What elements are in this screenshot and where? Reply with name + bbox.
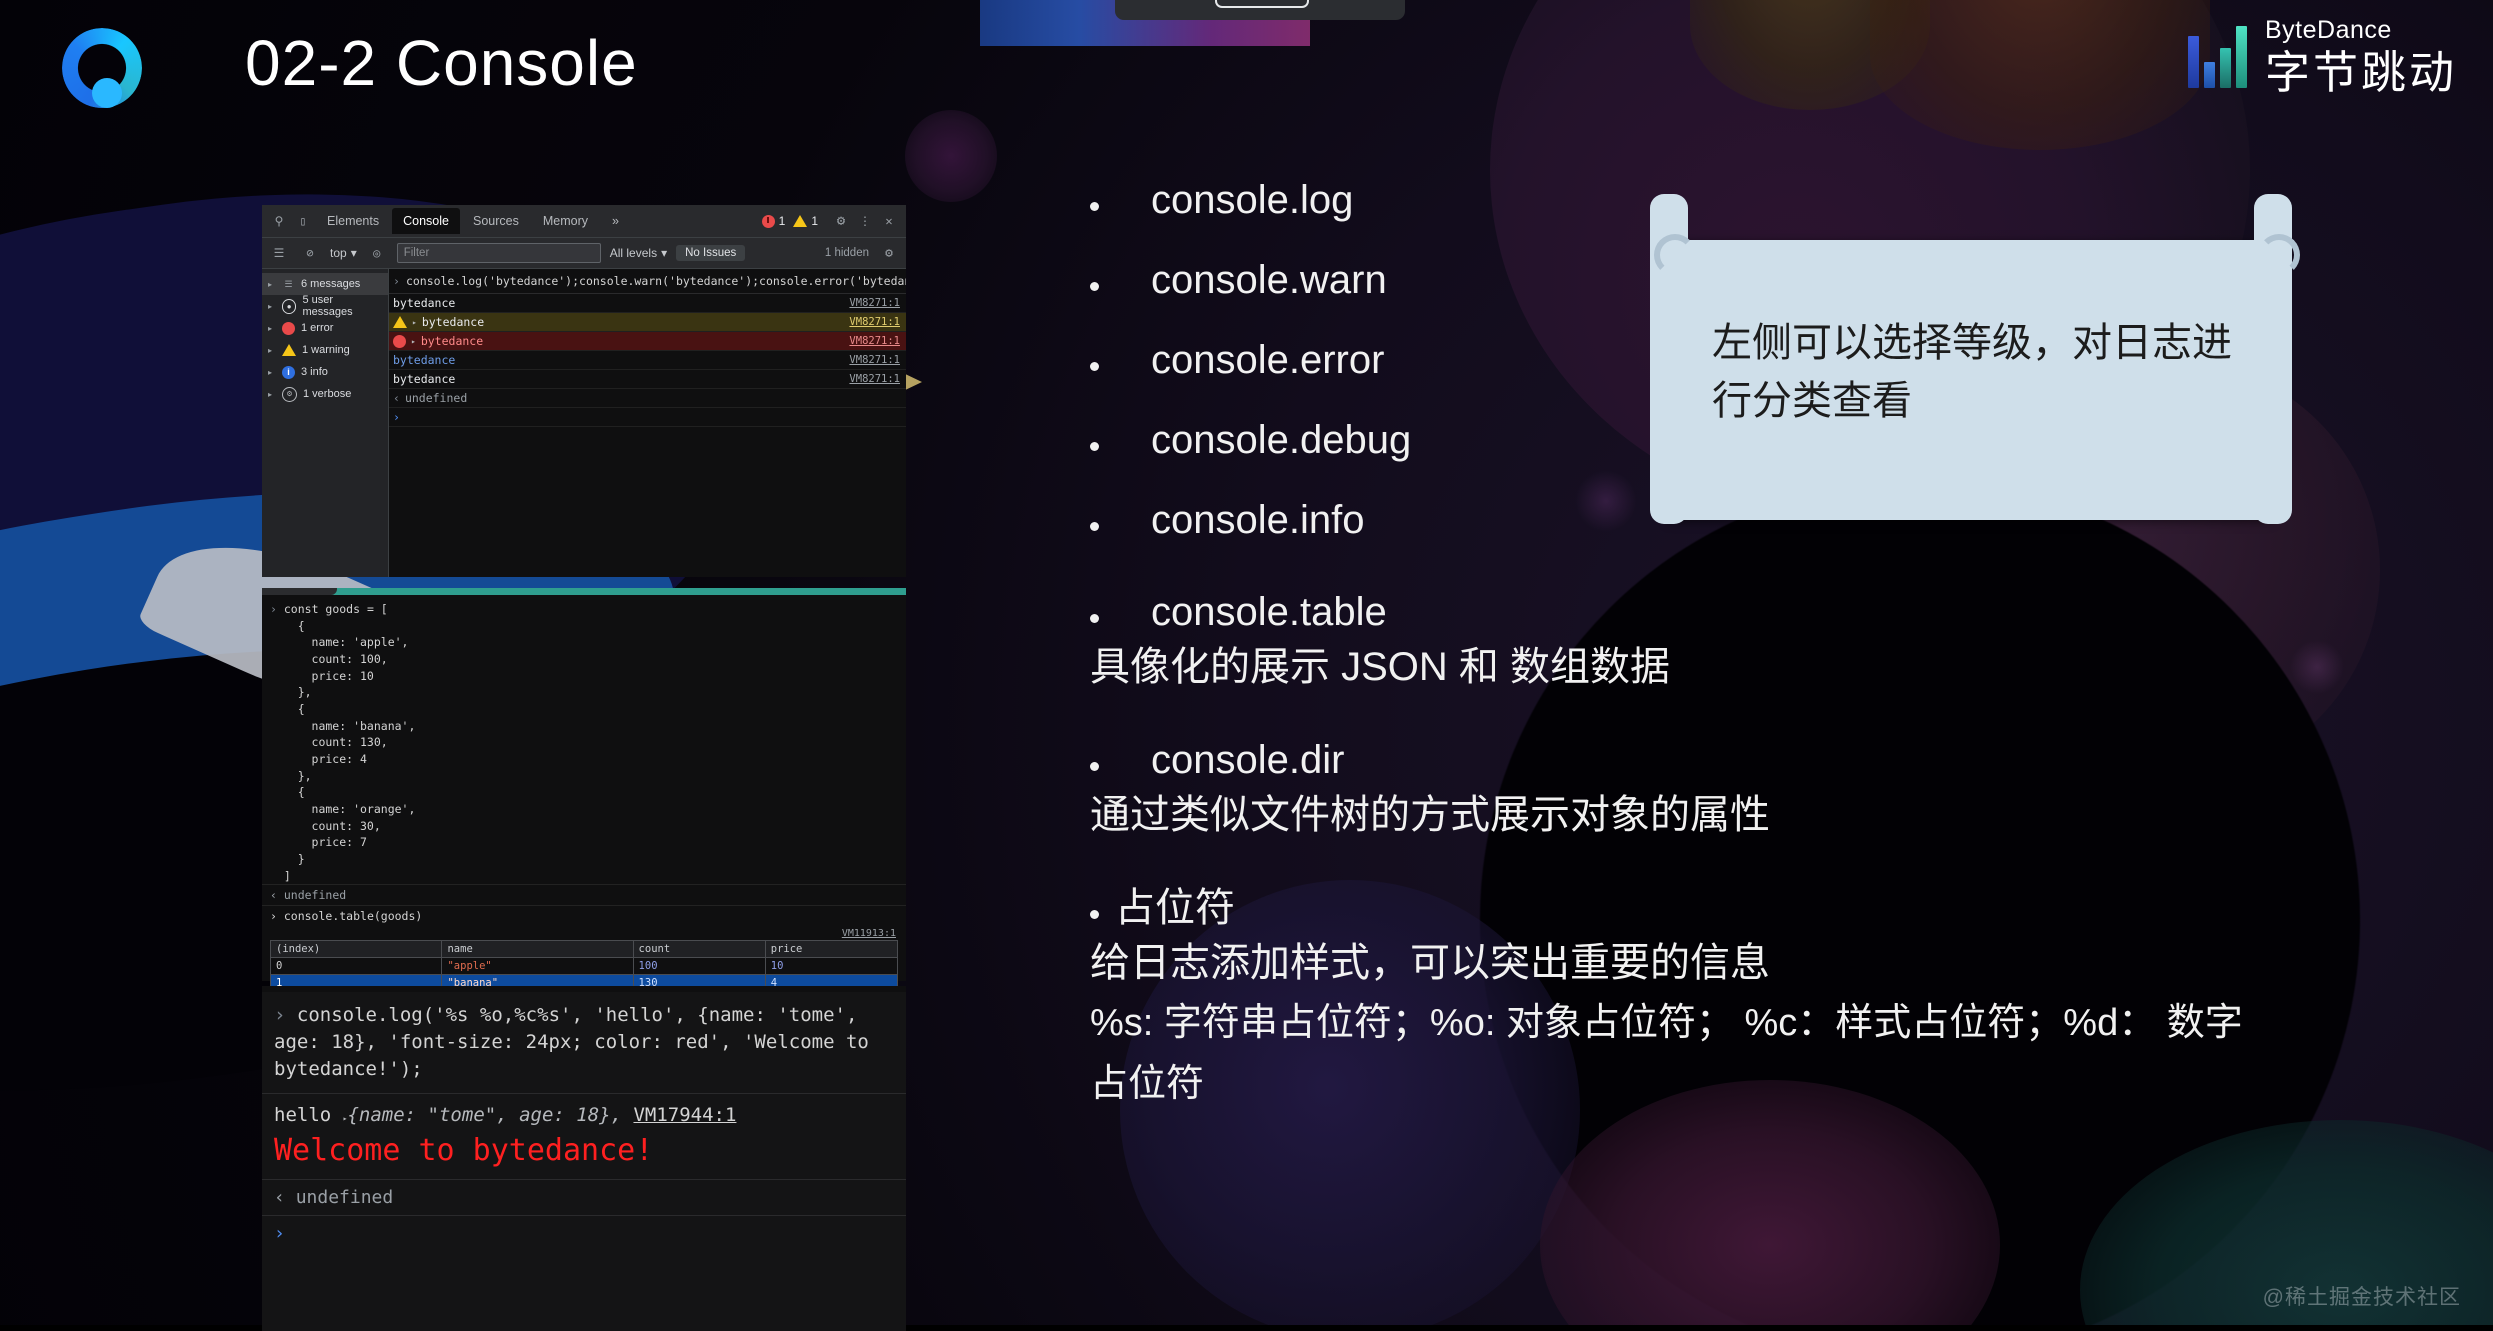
settings-gear-icon[interactable]: ⚙	[830, 210, 852, 232]
return-arrow-icon: ‹	[393, 391, 400, 405]
column-header-count: count	[633, 941, 765, 958]
log-message: bytedance	[393, 353, 455, 367]
output-source-link[interactable]: VM17944:1	[633, 1104, 736, 1126]
callout-text: 左侧可以选择等级，对日志进行分类查看	[1712, 314, 2232, 430]
bullet-dot-icon	[1090, 202, 1099, 211]
chevron-right-icon: ▸	[268, 390, 276, 399]
console-sidebar[interactable]: ▸ ☰ 6 messages ▸ ● 5 user messages ▸ 1 e…	[262, 269, 389, 577]
bullet-dot-icon	[1090, 442, 1099, 451]
devtools-panel-console[interactable]: ⚲ ▯ Elements Console Sources Memory » 1 …	[262, 205, 906, 575]
section-description: 通过类似文件树的方式展示对象的属性	[1090, 788, 2480, 842]
goods-source-code: const goods = [ { name: 'apple', count: …	[270, 602, 415, 883]
sidebar-item-user-messages[interactable]: ▸ ● 5 user messages	[262, 295, 388, 317]
warning-icon	[282, 344, 296, 356]
log-source-link[interactable]: VM8271:1	[849, 316, 900, 328]
devtools-panel-table[interactable]: › const goods = [ { name: 'apple', count…	[262, 588, 906, 981]
chevron-right-icon: ▸	[268, 368, 276, 377]
cell-index: 0	[271, 958, 442, 975]
devtools-filter-bar: ☰ ⊘ top ▾ ◎ Filter All levels ▾ No Issue…	[262, 238, 906, 269]
console-settings-gear-icon[interactable]: ⚙	[878, 242, 900, 264]
log-row[interactable]: ▸ bytedance VM8271:1	[389, 313, 906, 332]
cell-name: "apple"	[442, 958, 633, 975]
goods-code-block: › const goods = [ { name: 'apple', count…	[262, 595, 906, 884]
prompt-arrow-icon: ›	[393, 410, 400, 424]
clear-console-icon[interactable]: ⊘	[299, 242, 321, 264]
console-input-echo: › console.log('bytedance');console.warn(…	[389, 269, 906, 294]
section-placeholders: 占位符 给日志添加样式，可以突出重要的信息 %s: 字符串占位符；%o: 对象占…	[1090, 888, 2480, 1112]
console-prompt-row[interactable]: ›	[389, 408, 906, 427]
slide-header: 02-2 Console ByteDance 字节跳动	[0, 0, 2493, 130]
bullet-dot-icon	[1090, 362, 1099, 371]
sidebar-item-label: 1 verbose	[303, 388, 351, 400]
output-prefix: hello	[274, 1104, 331, 1126]
bytedance-logo: ByteDance 字节跳动	[2188, 18, 2457, 95]
method-label: console.warn	[1151, 260, 1387, 300]
chevron-down-icon: ▾	[351, 246, 357, 260]
placeholder-reference-line-1: %s: 字符串占位符；%o: 对象占位符； %c：样式占位符；%d： 数字	[1090, 996, 2480, 1051]
tab-elements[interactable]: Elements	[316, 208, 390, 234]
method-label: console.debug	[1151, 420, 1411, 460]
live-expression-icon[interactable]: ◎	[366, 242, 388, 264]
warning-icon	[393, 316, 407, 328]
warning-count-label: 1	[811, 214, 818, 228]
log-source-link[interactable]: VM8271:1	[849, 297, 900, 309]
section-description: 具像化的展示 JSON 和 数组数据	[1090, 640, 2480, 694]
device-toolbar-icon[interactable]: ▯	[292, 210, 314, 232]
log-level-label: All levels	[610, 246, 657, 260]
inspect-element-icon[interactable]: ⚲	[268, 210, 290, 232]
brand-name-en: ByteDance	[2265, 18, 2457, 43]
logo-dot-shape	[92, 78, 122, 108]
log-row[interactable]: bytedance VM8271:1	[389, 351, 906, 370]
section-console-table: console.table 具像化的展示 JSON 和 数组数据	[1090, 592, 2480, 694]
sidebar-item-messages[interactable]: ▸ ☰ 6 messages	[262, 273, 388, 295]
hidden-count-label: 1 hidden	[825, 247, 869, 259]
section-console-dir: console.dir 通过类似文件树的方式展示对象的属性	[1090, 740, 2480, 842]
styled-output-text: Welcome to bytedance!	[262, 1131, 906, 1180]
log-result-row: ‹ undefined	[389, 389, 906, 408]
error-icon	[282, 322, 295, 335]
panel2-undefined-result: ‹ undefined	[262, 884, 906, 905]
section-title: 占位符	[1115, 888, 1235, 928]
sidebar-item-label: 5 user messages	[302, 294, 384, 318]
devtools-panel-placeholder[interactable]: › console.log('%s %o,%c%s', 'hello', {na…	[262, 986, 906, 1331]
info-icon: i	[282, 366, 295, 379]
log-row[interactable]: bytedance VM8271:1	[389, 294, 906, 313]
watermark: @稀土掘金技术社区	[2263, 1281, 2461, 1311]
log-source-link[interactable]: VM8271:1	[849, 373, 900, 385]
expand-triangle-icon[interactable]: ▸	[412, 318, 417, 327]
sidebar-item-errors[interactable]: ▸ 1 error	[262, 317, 388, 339]
chevron-right-icon: ▸	[268, 346, 276, 355]
error-icon	[393, 335, 406, 348]
panel-scroll-cap	[262, 588, 337, 595]
section-bullet: console.dir	[1090, 740, 2480, 780]
output-object: {name: "tome", age: 18},	[347, 1104, 622, 1126]
undefined-value: undefined	[284, 888, 346, 902]
tab-memory[interactable]: Memory	[532, 208, 599, 234]
cell-count: 100	[633, 958, 765, 975]
close-icon[interactable]: ✕	[878, 210, 900, 232]
bullet-dot-icon	[1090, 282, 1099, 291]
section-description: 给日志添加样式，可以突出重要的信息	[1090, 936, 2480, 990]
context-selector-label: top	[330, 246, 347, 260]
expand-triangle-icon[interactable]: ▸	[411, 337, 416, 346]
error-count-badge[interactable]: 1	[762, 214, 786, 228]
sidebar-item-label: 1 error	[301, 322, 333, 334]
log-message: bytedance	[393, 296, 455, 310]
placeholder-command-line: › console.log('%s %o,%c%s', 'hello', {na…	[262, 992, 906, 1094]
chevron-right-icon: ▸	[268, 280, 276, 289]
error-count-label: 1	[779, 214, 786, 228]
brand-name-cn: 字节跳动	[2265, 50, 2457, 95]
sidebar-item-label: 3 info	[301, 366, 328, 378]
context-selector[interactable]: top ▾	[330, 246, 357, 260]
callout-scroll: 左侧可以选择等级，对日志进行分类查看	[1650, 240, 2290, 520]
more-options-icon[interactable]: ⋮	[854, 210, 876, 232]
prompt-arrow-icon: ›	[393, 273, 400, 289]
messages-icon: ☰	[282, 278, 295, 291]
log-result-value: undefined	[405, 391, 467, 405]
placeholder-undefined-result: ‹ undefined	[262, 1180, 906, 1216]
bullet-dot-icon	[1090, 614, 1099, 623]
undefined-value: undefined	[296, 1187, 394, 1208]
sidebar-item-label: 6 messages	[301, 278, 360, 290]
method-label: console.info	[1151, 500, 1364, 540]
method-label: console.log	[1151, 180, 1353, 220]
log-level-selector[interactable]: All levels ▾	[610, 246, 667, 260]
column-header-name: name	[442, 941, 633, 958]
warning-count-badge[interactable]: 1	[793, 214, 818, 228]
error-icon	[762, 215, 775, 228]
table-command-text: console.table(goods)	[284, 909, 422, 923]
bullet-dot-icon	[1090, 910, 1099, 919]
callout-roll-left	[1650, 194, 1688, 524]
console-prompt-row[interactable]: ›	[262, 1216, 906, 1251]
bullet-dot-icon	[1090, 522, 1099, 531]
roll-curl-icon	[2258, 234, 2300, 276]
cell-price: 10	[765, 958, 897, 975]
log-message: bytedance	[421, 334, 483, 348]
log-row[interactable]: ▸ bytedance VM8271:1	[389, 332, 906, 351]
filter-input[interactable]: Filter	[397, 243, 601, 263]
bytedance-bars-icon	[2188, 26, 2247, 88]
column-header-index: (index)	[271, 941, 442, 958]
tab-sources[interactable]: Sources	[462, 208, 530, 234]
user-icon: ●	[282, 299, 297, 314]
verbose-icon: ⚙	[282, 387, 297, 402]
sidebar-item-info[interactable]: ▸ i 3 info	[262, 361, 388, 383]
console-sidebar-toggle-icon[interactable]: ☰	[268, 242, 290, 264]
roll-curl-icon	[1654, 234, 1696, 276]
log-source-link[interactable]: VM8271:1	[849, 354, 900, 366]
sidebar-item-warnings[interactable]: ▸ 1 warning	[262, 339, 388, 361]
section-bullet: 占位符	[1090, 888, 2480, 928]
chevron-down-icon: ▾	[661, 246, 667, 260]
warning-icon	[793, 215, 807, 227]
tab-more-icon[interactable]: »	[601, 208, 630, 234]
section-bullet: console.table	[1090, 592, 2480, 632]
table-row[interactable]: 0 "apple" 100 10	[271, 958, 898, 975]
section-title: console.table	[1151, 592, 1387, 632]
bullet-dot-icon	[1090, 762, 1099, 771]
table-command-line: › console.table(goods)	[262, 905, 906, 926]
devtools-tabbar: ⚲ ▯ Elements Console Sources Memory » 1 …	[262, 205, 906, 238]
console-input-expression: console.log('bytedance');console.warn('b…	[406, 273, 906, 289]
placeholder-output-line: hello ▸{name: "tome", age: 18}, VM17944:…	[262, 1094, 906, 1131]
placeholder-reference-line-2: 占位符	[1090, 1057, 2480, 1112]
chevron-right-icon: ▸	[268, 324, 276, 333]
table-source-link[interactable]: VM11913:1	[270, 928, 898, 939]
page-title: 02-2 Console	[245, 26, 638, 100]
table-header-row: (index) name count price	[271, 941, 898, 958]
issues-button[interactable]: No Issues	[676, 245, 745, 261]
sidebar-item-verbose[interactable]: ▸ ⚙ 1 verbose	[262, 383, 388, 405]
sidebar-item-label: 1 warning	[302, 344, 350, 356]
column-header-price: price	[765, 941, 897, 958]
course-logo-icon	[62, 28, 142, 108]
chevron-right-icon: ▸	[268, 302, 276, 311]
console-log-area[interactable]: › console.log('bytedance');console.warn(…	[389, 269, 906, 577]
log-message: bytedance	[393, 372, 455, 386]
log-row[interactable]: bytedance VM8271:1	[389, 370, 906, 389]
placeholder-command-text: console.log('%s %o,%c%s', 'hello', {name…	[274, 1004, 880, 1080]
log-source-link[interactable]: VM8271:1	[849, 335, 900, 347]
section-title: console.dir	[1151, 740, 1344, 780]
tab-console[interactable]: Console	[392, 208, 460, 234]
callout-roll-right	[2254, 194, 2292, 524]
method-label: console.error	[1151, 340, 1384, 380]
log-message: bytedance	[422, 315, 484, 329]
